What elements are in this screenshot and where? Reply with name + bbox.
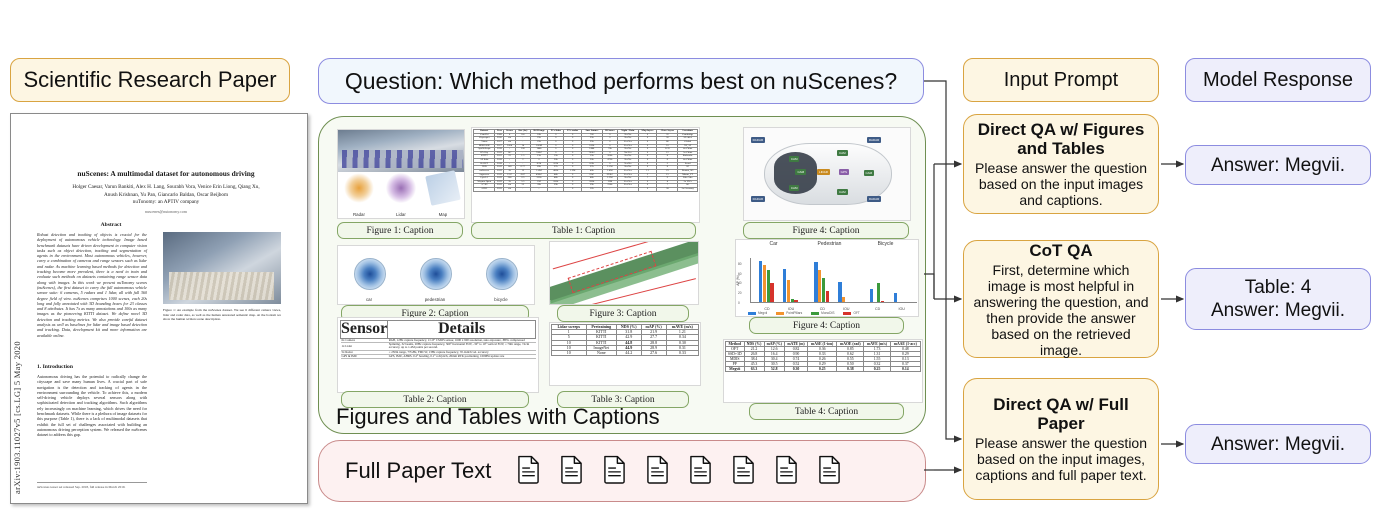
table-cell: 2019 (495, 188, 504, 192)
question-box: Question: Which method performs best on … (318, 58, 924, 104)
chart-panel-title-bicycle: Bicycle (858, 241, 913, 247)
figure-1-caption: Figure 1: Caption (337, 222, 463, 239)
table-cell: A2D2 (474, 188, 495, 192)
chart-legend-swatch (811, 312, 819, 315)
chart-ytick-label: 40 (738, 281, 742, 285)
table-cell: 0.33 (666, 350, 698, 355)
figure-4-barchart-thumbnail[interactable]: Car Pedestrian Bicycle AP (%) MegviiPoin… (735, 239, 919, 317)
chart-bar-group (783, 258, 798, 302)
figure2-sublabel-pedestrian: pedestrian (415, 297, 455, 302)
figure-4-top-caption: Figure 4: Caption (743, 222, 909, 239)
chart-bar (794, 300, 797, 302)
document-icon-row (517, 454, 841, 489)
table-4-thumbnail[interactable]: MethodNDS (%)mAP (%)mATE (m)mASE (1-iou)… (723, 339, 923, 403)
figure1-sublabel-map: Map (422, 212, 464, 217)
chart-ytick-label: 80 (738, 262, 742, 266)
chart-bar (870, 289, 873, 302)
table-3-thumbnail[interactable]: Lidar sweepsPretrainingNDS (%)mAP (%)mAV… (549, 322, 701, 386)
prompt-body: First, determine which image is most hel… (972, 262, 1150, 358)
table-cell: 52.8 (764, 366, 784, 371)
table-2: SensorDetails6x CameraRGB, 12Hz capture … (340, 320, 536, 359)
chart-bar (783, 269, 786, 302)
figures-and-tables-label: Figures and Tables with Captions (336, 404, 660, 430)
table-cell: 27.6 (641, 350, 666, 355)
chart-bar-group (870, 258, 885, 302)
table-cell: - (602, 188, 618, 192)
chart-bar (787, 280, 790, 302)
prompt-title: Direct QA w/ Figures and Tables (972, 120, 1150, 158)
prompt-title: Direct QA w/ Full Paper (972, 395, 1150, 433)
chart-xtick-label: CD (869, 307, 887, 311)
document-icon[interactable] (603, 454, 626, 489)
abstract-text: Robust detection and tracking of objects… (37, 232, 147, 338)
table-2-thumbnail[interactable]: SensorDetails6x CameraRGB, 12Hz capture … (337, 317, 539, 393)
col-header: NDS (%) (744, 342, 764, 347)
table-cell: GPS, IMU, AHRS. 0.2° heading, 0.1° roll/… (388, 354, 536, 358)
table-1-caption: Table 1: Caption (471, 222, 696, 239)
table-row: GPS & IMUGPS, IMU, AHRS. 0.2° heading, 0… (341, 354, 536, 358)
table-cell: 0 (564, 188, 582, 192)
input-prompt-label: Input Prompt (963, 58, 1159, 102)
figure-3-thumbnail[interactable] (549, 241, 699, 305)
table-cell: - (618, 188, 638, 192)
document-icon[interactable] (517, 454, 540, 489)
chart-xtick-label: CD (813, 307, 831, 311)
paper-authors-text: Holger Caesar, Varun Bankiti, Alex H. La… (41, 184, 291, 207)
table-1: DatasetYearScenesSize (hr)RGB imgsPCs li… (473, 129, 698, 192)
abstract-heading: Abstract (71, 222, 151, 228)
chart-bar (814, 262, 817, 302)
table-cell: 1x Lidar (341, 343, 388, 350)
chart-xtick-label: IOU (893, 307, 911, 311)
prompt-direct-qa-full-paper[interactable]: Direct QA w/ Full Paper Please answer th… (963, 378, 1159, 500)
figure-4-bottom-caption: Figure 4: Caption (749, 317, 904, 334)
document-icon[interactable] (775, 454, 798, 489)
chart-bar (842, 297, 845, 302)
chart-legend-swatch (776, 312, 784, 315)
col-header: mAAE (1-acc) (890, 342, 920, 347)
chart-xtick-label: CD (758, 307, 776, 311)
table-cell: SSD+3D (726, 351, 745, 356)
chart-bar (767, 270, 770, 302)
table-cell: 0.30 (784, 366, 807, 371)
chart-bar (770, 283, 773, 302)
figures-and-tables-panel: Radar Lidar Map Figure 1: Caption Datase… (318, 116, 926, 434)
table-cell: None (586, 350, 616, 355)
chart-legend-item: Megvii (748, 311, 767, 315)
prompt-cot-qa[interactable]: CoT QA First, determine which image is m… (963, 240, 1159, 358)
chart-legend-item: MonoDIS (811, 311, 834, 315)
table-cell: 0.38 (837, 366, 864, 371)
chart-ytick-label: 60 (738, 272, 742, 276)
chart-plot-area (750, 258, 917, 303)
table-row: 10None44.227.60.33 (552, 350, 699, 355)
scientific-research-paper-label: Scientific Research Paper (10, 58, 290, 102)
table-cell: GPS & IMU (341, 354, 388, 358)
full-paper-text-label: Full Paper Text (345, 458, 491, 484)
table-row: Megvii63.352.80.300.250.380.250.14 (726, 366, 921, 371)
model-response-label: Model Response (1185, 58, 1371, 102)
table-cell: 12k (581, 188, 602, 192)
chart-bar (818, 270, 821, 302)
table-3: Lidar sweepsPretrainingNDS (%)mAP (%)mAV… (551, 324, 699, 356)
chart-legend-item: PointPillars (776, 311, 802, 315)
col-header: mAP (%) (764, 342, 784, 347)
col-header: mAVE (m/s) (864, 342, 890, 347)
table-4-caption: Table 4: Caption (749, 403, 904, 420)
chart-bar (877, 283, 880, 302)
chart-xtick-label: IOU (782, 307, 800, 311)
document-icon[interactable] (732, 454, 755, 489)
chart-bar (763, 265, 766, 302)
col-header: mASE (1-iou) (808, 342, 837, 347)
document-icon[interactable] (560, 454, 583, 489)
table-cell: 0 (638, 188, 657, 192)
prompt-body: Please answer the question based on the … (972, 435, 1150, 483)
col-header: mAOE (rad) (837, 342, 864, 347)
table-1-thumbnail[interactable]: DatasetYearScenesSize (hr)RGB imgsPCs li… (471, 127, 700, 223)
figure-2-thumbnail[interactable]: car pedestrian bicycle (337, 245, 535, 305)
table-row: 1x LidarSpinning, 32 beams, 20Hz capture… (341, 343, 536, 350)
introduction-text: Autonomous driving has the potential to … (37, 374, 147, 438)
response-cot-qa: Table: 4 Answer: Megvii. (1185, 268, 1371, 330)
figure2-sublabel-car: car (349, 297, 389, 302)
chart-bar-group (814, 258, 829, 302)
table-2-header-row: SensorDetails (341, 321, 536, 339)
prompt-title: CoT QA (1029, 241, 1092, 260)
figure1-sublabel-radar: Radar (338, 212, 380, 217)
col-header: mATE (m) (784, 342, 807, 347)
arxiv-stamp: arXiv:1903.11027v5 [cs.LG] 5 May 2020 (12, 309, 26, 494)
table-cell: 0.14 (890, 366, 920, 371)
response-direct-qa-full-paper: Answer: Megvii. (1185, 424, 1371, 464)
figure-1-thumbnail[interactable]: Radar Lidar Map (337, 129, 465, 219)
paper-figure-caption: Figure 1: An example from the nuScenes d… (163, 308, 281, 322)
chart-bar (826, 291, 829, 302)
chart-legend: MegviiPointPillarsMonoDISOFT (748, 311, 860, 315)
chart-legend-item: OFT (843, 311, 859, 315)
table-cell: 63.3 (744, 366, 764, 371)
chart-bar (894, 293, 897, 302)
table-cell: - (516, 188, 531, 192)
chart-bar (822, 278, 825, 302)
figure1-sublabel-lidar: Lidar (380, 212, 422, 217)
paper-contact-text: nuscenes@nutonomy.com (41, 209, 291, 214)
chart-bar (791, 299, 794, 302)
chart-legend-swatch (748, 312, 756, 315)
chart-panel-title-car: Car (746, 241, 801, 247)
chart-bar (838, 282, 841, 302)
document-icon[interactable] (646, 454, 669, 489)
chart-ytick-label: 0 (738, 301, 740, 305)
table-cell: Megvii (726, 366, 745, 371)
paper-teaser-figure (163, 232, 281, 304)
table-cell: 10 (552, 350, 587, 355)
chart-bar-group (759, 258, 774, 302)
col-header: Details (388, 321, 536, 339)
figure-4-car-thumbnail[interactable]: RADAR RADAR RADAR RADAR CAM CAM CAM CAM … (743, 127, 911, 221)
table-1-header-row: DatasetYearScenesSize (hr)RGB imgsPCs li… (474, 130, 698, 134)
chart-legend-swatch (843, 312, 851, 315)
table-cell: 0.25 (864, 366, 890, 371)
table-cell: - (548, 188, 564, 192)
prompt-body: Please answer the question based on the … (972, 160, 1150, 208)
paper-title-text: nuScenes: A multimodal dataset for auton… (37, 169, 295, 178)
table-cell: 38 (657, 188, 678, 192)
chart-bar-group (838, 258, 853, 302)
chart-bar (881, 301, 884, 302)
table-cell: n/a (504, 188, 516, 192)
chart-ytick-label: 20 (738, 291, 742, 295)
table-cell: 0.25 (808, 366, 837, 371)
full-paper-text-panel: Full Paper Text (318, 440, 926, 502)
table-cell: Spinning, 32 beams, 20Hz capture frequen… (388, 343, 536, 350)
table-cell: 44.2 (617, 350, 642, 355)
table-cell: 3x Germany (678, 188, 698, 192)
chart-panel-title-pedestrian: Pedestrian (802, 241, 857, 247)
table-4: MethodNDS (%)mAP (%)mATE (m)mASE (1-iou)… (725, 341, 921, 372)
response-direct-qa-figures-tables: Answer: Megvii. (1185, 145, 1371, 185)
introduction-heading: 1. Introduction (37, 364, 73, 370)
paper-footnote: nuScenes teaser set released Sep. 2018, … (37, 482, 147, 489)
figure2-sublabel-bicycle: bicycle (481, 297, 521, 302)
document-icon[interactable] (689, 454, 712, 489)
paper-page-preview: arXiv:1903.11027v5 [cs.LG] 5 May 2020 nu… (10, 113, 308, 504)
chart-bar-group (894, 258, 909, 302)
table-cell: - (530, 188, 548, 192)
col-header: Sensor (341, 321, 388, 339)
document-icon[interactable] (818, 454, 841, 489)
figure-3-caption: Figure 3: Caption (557, 305, 689, 322)
table-row: A2D22019n/a---012k--0383x Germany (474, 188, 698, 192)
chart-bar (759, 261, 762, 302)
prompt-direct-qa-figures-tables[interactable]: Direct QA w/ Figures and Tables Please a… (963, 114, 1159, 214)
chart-xtick-label: IOU (837, 307, 855, 311)
